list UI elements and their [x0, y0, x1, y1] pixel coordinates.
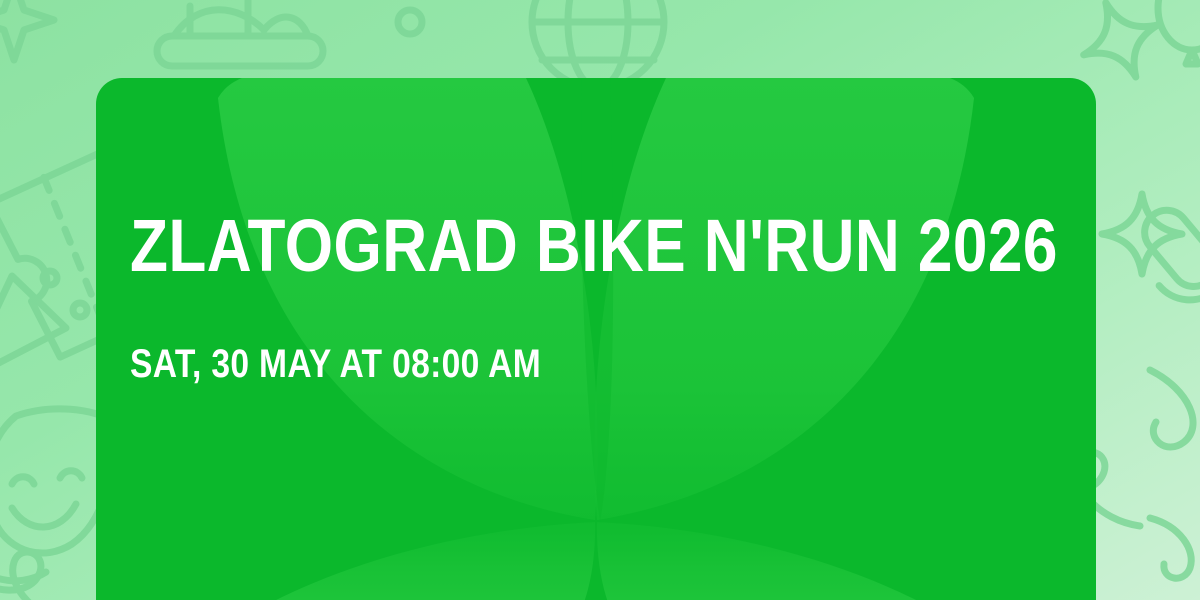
streamer-icon	[0, 552, 78, 600]
star-icon	[0, 0, 54, 60]
cake-icon	[157, 0, 323, 66]
event-datetime: SAT, 30 MAY AT 08:00 AM	[130, 342, 541, 386]
sparkle-icon	[398, 10, 422, 34]
event-title: ZLATOGRAD BIKE N'RUN 2026	[130, 206, 1058, 286]
globe-icon	[532, 0, 664, 88]
event-banner: ZLATOGRAD BIKE N'RUN 2026 SAT, 30 MAY AT…	[0, 0, 1200, 600]
balloon-icon	[1158, 0, 1200, 64]
card-text-block: ZLATOGRAD BIKE N'RUN 2026 SAT, 30 MAY AT…	[130, 78, 1096, 600]
event-card[interactable]: ZLATOGRAD BIKE N'RUN 2026 SAT, 30 MAY AT…	[96, 78, 1096, 600]
